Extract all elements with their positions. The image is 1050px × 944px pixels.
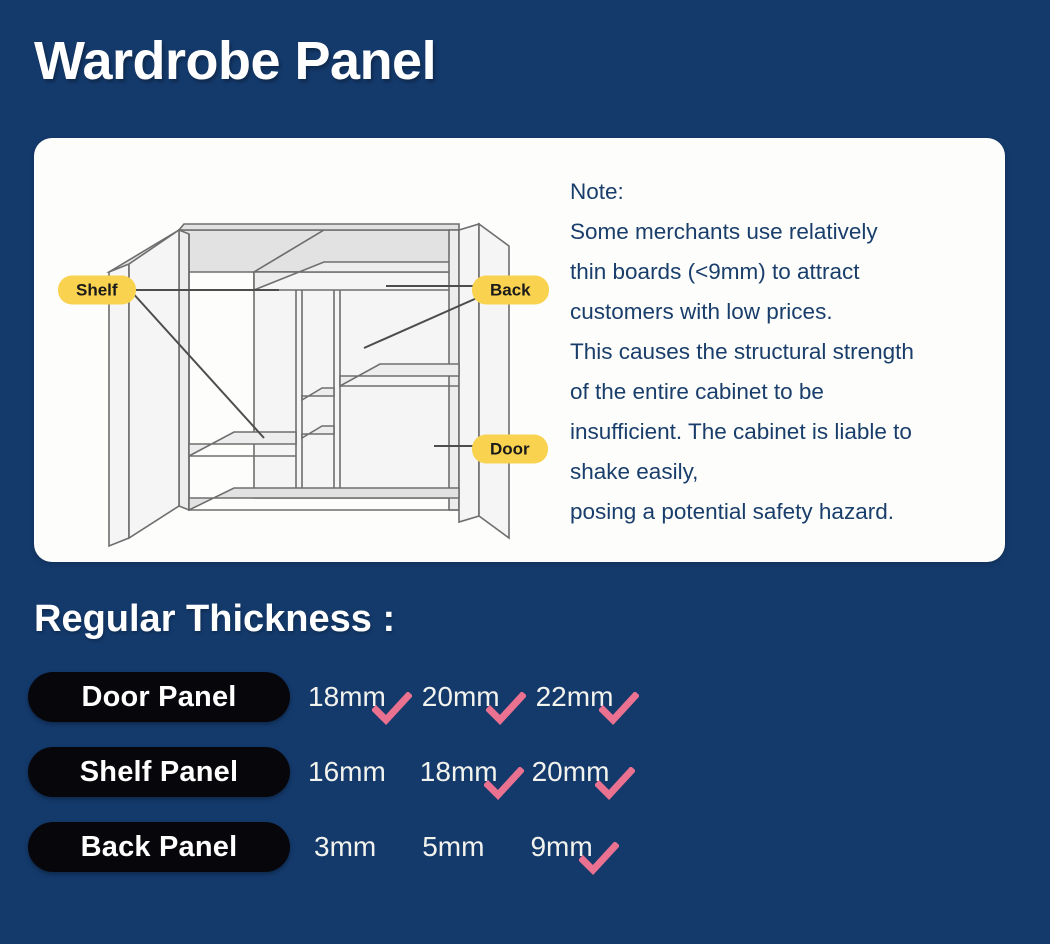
note-line: This causes the structural strength xyxy=(570,332,1000,372)
left-door xyxy=(129,230,179,538)
note-line: insufficient. The cabinet is liable to xyxy=(570,412,1000,452)
thickness-table: Door Panel 18mm 20mm 22mm xyxy=(0,672,1050,897)
back-panel xyxy=(254,272,459,498)
option-door-0[interactable]: 18mm xyxy=(308,672,386,722)
note-line: posing a potential safety hazard. xyxy=(570,492,1000,532)
panel-pill-door-label: Door Panel xyxy=(81,681,236,714)
option-shelf-1[interactable]: 18mm xyxy=(420,747,498,797)
diagram-label-back-text: Back xyxy=(490,281,531,300)
diagram-label-door: Door xyxy=(472,435,548,464)
check-icon xyxy=(486,692,526,726)
option-back-1[interactable]: 5mm xyxy=(422,822,484,872)
carcass-left-side xyxy=(179,230,189,510)
panel-pill-back-label: Back Panel xyxy=(81,831,238,864)
option-door-1[interactable]: 20mm xyxy=(422,672,500,722)
right-door-edge xyxy=(459,224,479,522)
diagram-label-back: Back xyxy=(472,276,549,305)
thickness-row-back: Back Panel 3mm 5mm 9mm xyxy=(0,822,1050,897)
check-icon xyxy=(484,767,524,801)
option-back-2[interactable]: 9mm xyxy=(530,822,592,872)
option-back-0-label: 3mm xyxy=(314,831,376,863)
option-shelf-0-label: 16mm xyxy=(308,756,386,788)
options-door: 18mm 20mm 22mm xyxy=(308,672,649,722)
note-block: Note: Some merchants use relatively thin… xyxy=(570,172,1000,532)
bottom-panel xyxy=(189,488,459,510)
note-line: Some merchants use relatively xyxy=(570,212,1000,252)
left-door-edge xyxy=(109,264,129,546)
right-door xyxy=(479,224,509,538)
panel-pill-door[interactable]: Door Panel xyxy=(28,672,290,722)
top-edge xyxy=(179,224,459,230)
page-title: Wardrobe Panel xyxy=(34,32,436,91)
note-line: thin boards (<9mm) to attract xyxy=(570,252,1000,292)
check-icon xyxy=(372,692,412,726)
option-back-1-label: 5mm xyxy=(422,831,484,863)
panel-pill-shelf-label: Shelf Panel xyxy=(80,756,239,789)
option-shelf-0[interactable]: 16mm xyxy=(308,747,386,797)
note-line: Note: xyxy=(570,172,1000,212)
check-icon xyxy=(579,842,619,876)
panel-pill-shelf[interactable]: Shelf Panel xyxy=(28,747,290,797)
note-line: customers with low prices. xyxy=(570,292,1000,332)
option-back-0[interactable]: 3mm xyxy=(314,822,376,872)
check-icon xyxy=(595,767,635,801)
check-icon xyxy=(599,692,639,726)
diagram-label-door-text: Door xyxy=(490,440,530,459)
option-shelf-2[interactable]: 20mm xyxy=(532,747,610,797)
info-card: .ln { fill:none; stroke:#6E6E6E; stroke-… xyxy=(34,138,1005,562)
section-heading: Regular Thickness : xyxy=(34,598,395,641)
wardrobe-diagram: .ln { fill:none; stroke:#6E6E6E; stroke-… xyxy=(34,138,594,562)
diagram-label-shelf: Shelf xyxy=(58,276,136,305)
note-line: shake easily, xyxy=(570,452,1000,492)
options-back: 3mm 5mm 9mm xyxy=(314,822,639,872)
diagram-label-shelf-text: Shelf xyxy=(76,281,118,300)
thickness-row-door: Door Panel 18mm 20mm 22mm xyxy=(0,672,1050,747)
option-door-2[interactable]: 22mm xyxy=(536,672,614,722)
options-shelf: 16mm 18mm 20mm xyxy=(308,747,643,797)
thickness-row-shelf: Shelf Panel 16mm 18mm 20mm xyxy=(0,747,1050,822)
panel-pill-back[interactable]: Back Panel xyxy=(28,822,290,872)
note-line: of the entire cabinet to be xyxy=(570,372,1000,412)
